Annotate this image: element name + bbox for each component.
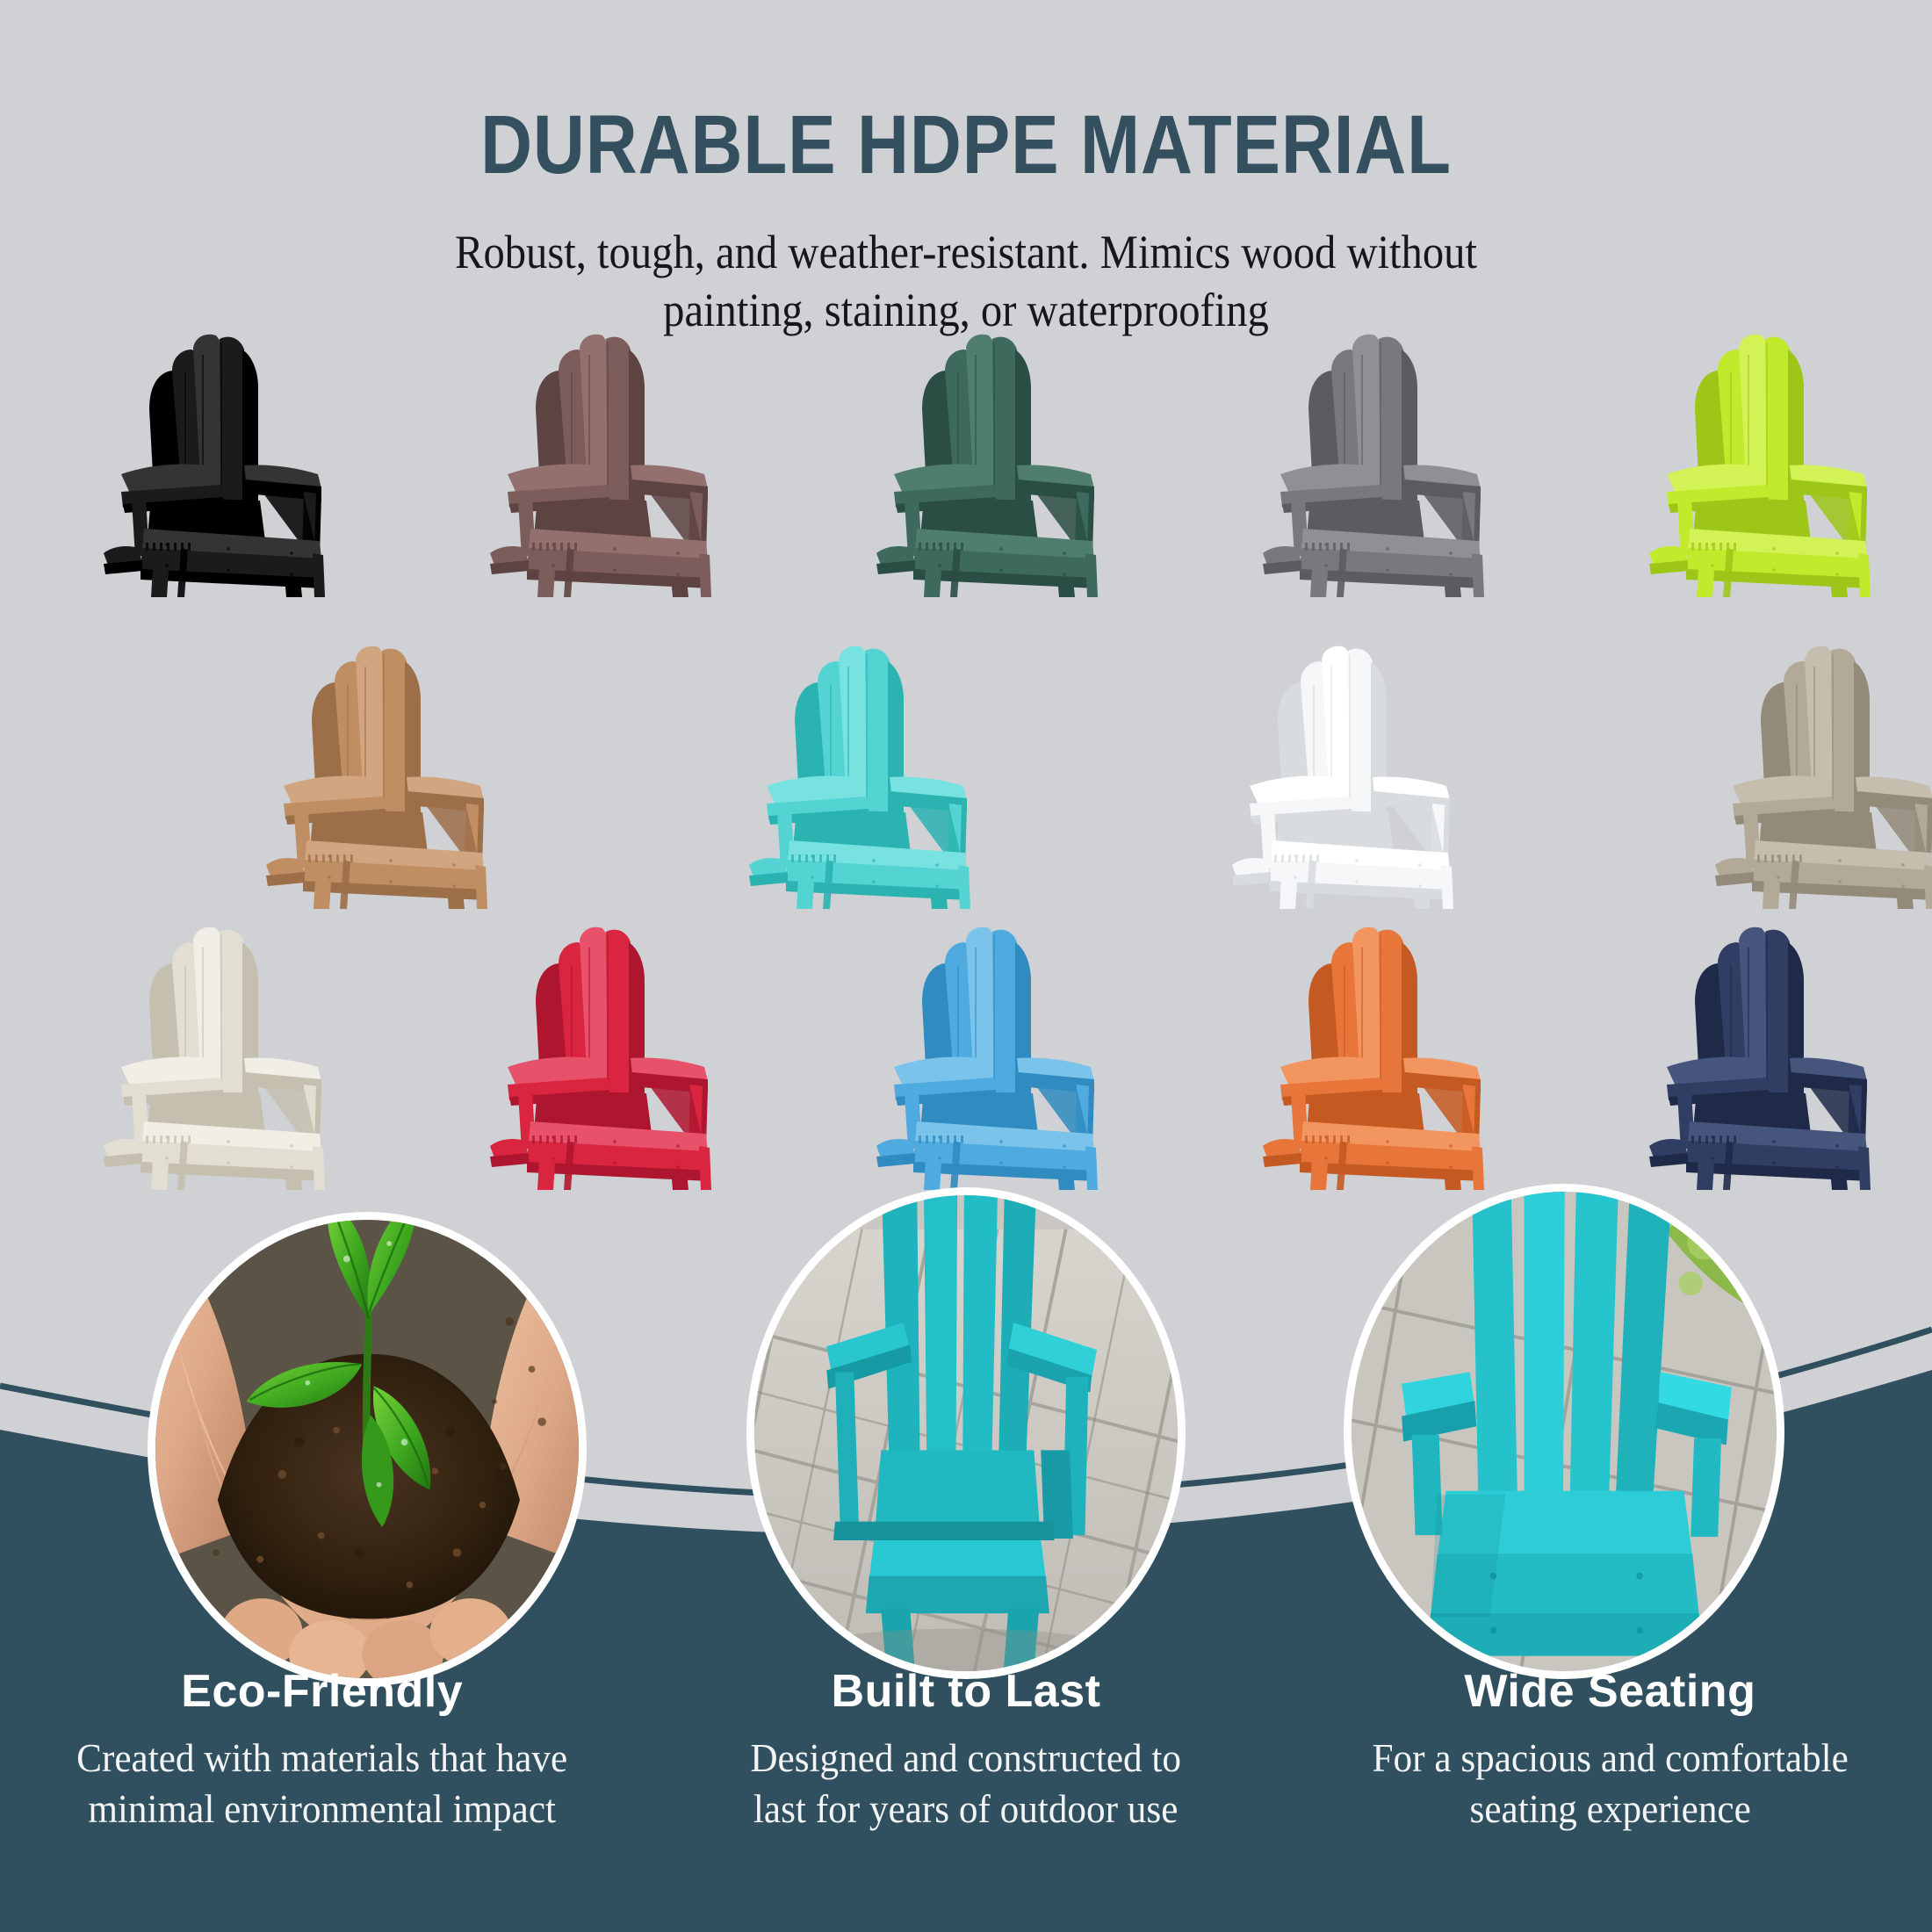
chair-swatch-white[interactable] — [1115, 645, 1598, 909]
chair-swatch-greige-taupe[interactable] — [1598, 645, 1932, 909]
caption-title: Built to Last — [679, 1669, 1252, 1714]
feature-image-built-to-last — [746, 1187, 1186, 1679]
adirondack-chair — [1642, 334, 1906, 597]
caption-body: Created with materials that have minimal… — [47, 1734, 597, 1835]
caption-body-line-1: For a spacious and comfortable — [1372, 1736, 1848, 1780]
chair-swatch-ivory-cream[interactable] — [35, 926, 422, 1190]
adirondack-chair — [869, 926, 1133, 1190]
infographic-root: DURABLE HDPE MATERIAL Robust, tough, and… — [0, 0, 1932, 1932]
caption-title: Wide Seating — [1323, 1669, 1897, 1714]
chair-row-3 — [0, 926, 1932, 1190]
chair-row-1 — [0, 334, 1932, 597]
chair-swatch-navy-blue[interactable] — [1581, 926, 1932, 1190]
caption-body-line-1: Designed and constructed to — [751, 1736, 1182, 1780]
feature-captions: Eco-Friendly Created with materials that… — [0, 1669, 1932, 1835]
adirondack-chair — [1708, 645, 1932, 909]
adirondack-chair — [97, 334, 360, 597]
chair-swatch-lime-green[interactable] — [1581, 334, 1932, 597]
adirondack-chair — [259, 645, 523, 909]
adirondack-chair — [483, 926, 746, 1190]
chair-row-2 — [0, 645, 1932, 909]
adirondack-chair — [1256, 334, 1519, 597]
chair-color-grid — [0, 0, 1932, 1317]
caption-eco-friendly: Eco-Friendly Created with materials that… — [0, 1669, 644, 1835]
caption-title: Eco-Friendly — [35, 1669, 609, 1714]
feature-image-eco-friendly — [148, 1212, 587, 1686]
adirondack-chair — [1642, 926, 1906, 1190]
caption-body-line-2: seating experience — [1469, 1787, 1750, 1831]
adirondack-chair — [869, 334, 1133, 597]
chair-swatch-teak-tan[interactable] — [149, 645, 632, 909]
caption-body-line-1: Created with materials that have — [76, 1736, 567, 1780]
caption-body-line-2: last for years of outdoor use — [753, 1787, 1178, 1831]
chair-swatch-gray[interactable] — [1194, 334, 1581, 597]
adirondack-chair — [483, 334, 746, 597]
adirondack-chair — [1225, 645, 1489, 909]
wide-seat-photo — [1352, 1192, 1777, 1671]
adirondack-chair — [1256, 926, 1519, 1190]
chair-swatch-black[interactable] — [35, 334, 422, 597]
feature-image-wide-seating — [1344, 1184, 1784, 1679]
chair-swatch-light-blue[interactable] — [808, 926, 1194, 1190]
caption-built-to-last: Built to Last Designed and constructed t… — [644, 1669, 1287, 1835]
caption-wide-seating: Wide Seating For a spacious and comforta… — [1288, 1669, 1932, 1835]
feature-circles — [0, 1212, 1932, 1686]
adirondack-chair — [742, 645, 1006, 909]
chair-swatch-mauve-brown[interactable] — [422, 334, 808, 597]
caption-body: Designed and constructed to last for yea… — [690, 1734, 1241, 1835]
caption-body-line-2: minimal environmental impact — [88, 1787, 556, 1831]
chair-swatch-crimson-red[interactable] — [422, 926, 808, 1190]
seedling-photo — [155, 1220, 579, 1678]
chair-swatch-turquoise[interactable] — [632, 645, 1115, 909]
chair-swatch-dark-green[interactable] — [808, 334, 1194, 597]
caption-body: For a spacious and comfortable seating e… — [1335, 1734, 1885, 1835]
adirondack-chair — [97, 926, 360, 1190]
patio-chair-photo — [754, 1195, 1178, 1671]
chair-swatch-orange[interactable] — [1194, 926, 1581, 1190]
